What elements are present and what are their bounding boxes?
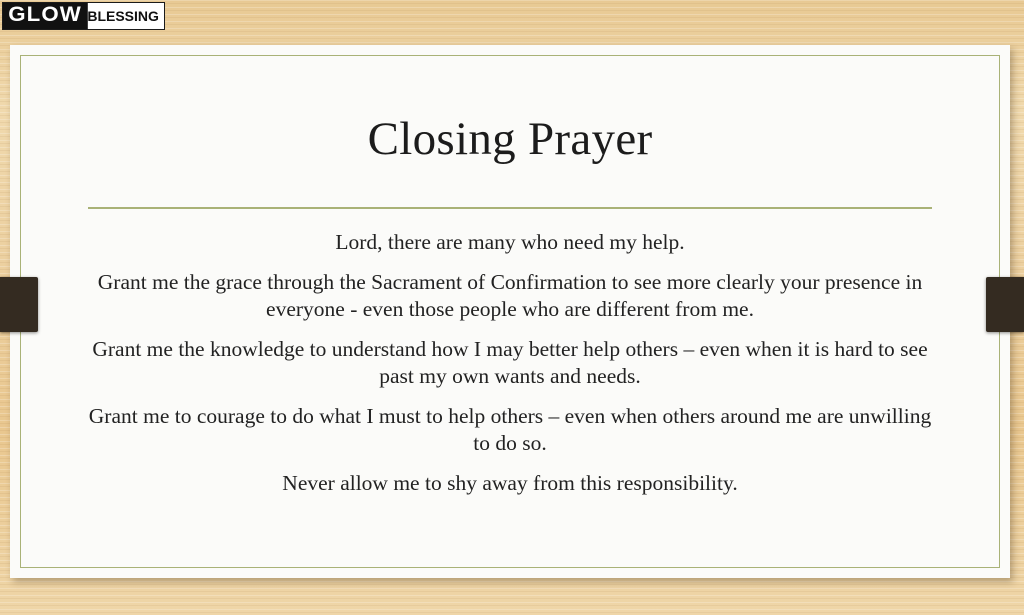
prayer-body: Lord, there are many who need my help. G… (88, 209, 932, 503)
watermark-blessing-text: BLESSING (83, 3, 164, 29)
prayer-paragraph: Never allow me to shy away from this res… (88, 464, 932, 504)
binder-tab-right (986, 277, 1024, 332)
presentation-slide: Closing Prayer Lord, there are many who … (10, 45, 1010, 578)
watermark-glow-text: GLOW (3, 3, 88, 29)
prayer-paragraph: Grant me the grace through the Sacrament… (88, 263, 932, 330)
prayer-paragraph: Grant me to courage to do what I must to… (88, 397, 932, 464)
glow-blessing-watermark: GLOW BLESSING (2, 2, 165, 30)
slide-stage: GLOW BLESSING Closing Prayer Lord, there… (0, 0, 1024, 615)
prayer-paragraph: Lord, there are many who need my help. (88, 223, 932, 263)
page-title: Closing Prayer (88, 45, 932, 164)
slide-content: Closing Prayer Lord, there are many who … (10, 45, 1010, 578)
binder-tab-left (0, 277, 38, 332)
prayer-paragraph: Grant me the knowledge to understand how… (88, 330, 932, 397)
